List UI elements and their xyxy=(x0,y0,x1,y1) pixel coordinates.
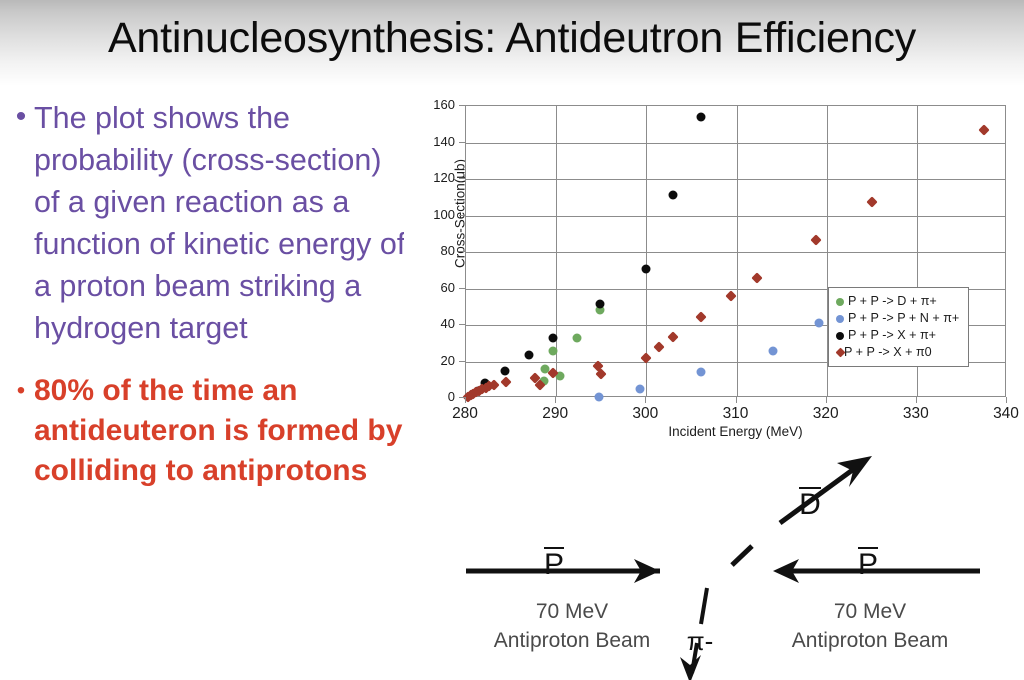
x-tick-label: 340 xyxy=(976,405,1024,423)
data-point xyxy=(500,376,511,387)
data-point xyxy=(668,331,679,342)
x-tick-mark xyxy=(736,397,737,403)
gridline-vertical xyxy=(737,106,738,396)
bullet-text-2: 80% of the time an antideuteron is forme… xyxy=(34,371,408,491)
x-tick-label: 320 xyxy=(796,405,856,423)
y-tick-mark xyxy=(459,251,465,252)
circle-marker-icon xyxy=(836,315,844,323)
y-tick-label: 0 xyxy=(395,389,455,404)
left-beam-caption: Antiproton Beam xyxy=(452,629,692,653)
gridline-horizontal xyxy=(466,216,1005,217)
antideuteron-label: D xyxy=(780,487,840,522)
y-tick-mark xyxy=(459,178,465,179)
y-tick-label: 80 xyxy=(395,243,455,258)
gridline-vertical xyxy=(556,106,557,396)
data-point xyxy=(978,125,989,136)
x-tick-mark xyxy=(645,397,646,403)
gridline-horizontal xyxy=(466,179,1005,180)
data-point xyxy=(596,300,605,309)
data-point xyxy=(484,381,495,392)
legend-item: P + P -> X + π+ xyxy=(836,327,959,344)
y-tick-label: 120 xyxy=(395,170,455,185)
data-point xyxy=(696,311,707,322)
data-point xyxy=(525,350,534,359)
data-point xyxy=(539,376,548,385)
legend-label: P + P -> P + N + π+ xyxy=(848,310,959,327)
gridline-horizontal xyxy=(466,252,1005,253)
x-tick-label: 280 xyxy=(435,405,495,423)
legend-item: P + P -> X + π0 xyxy=(836,344,959,361)
left-particle-label: P xyxy=(524,547,584,582)
gridline-horizontal xyxy=(466,143,1005,144)
y-tick-mark xyxy=(459,105,465,106)
data-point xyxy=(752,272,763,283)
legend-label: P + P -> D + π+ xyxy=(848,293,937,310)
data-point xyxy=(596,306,605,315)
data-point xyxy=(815,319,824,328)
y-tick-mark xyxy=(459,324,465,325)
data-point xyxy=(500,367,509,376)
y-tick-mark xyxy=(459,215,465,216)
y-tick-label: 100 xyxy=(395,207,455,222)
legend-label: P + P -> X + π+ xyxy=(848,327,936,344)
data-point xyxy=(488,380,499,391)
data-point xyxy=(596,368,607,379)
data-point xyxy=(480,379,489,388)
x-tick-mark xyxy=(555,397,556,403)
legend-label: P + P -> X + π0 xyxy=(844,344,932,361)
data-point xyxy=(477,384,488,395)
bullet-marker-icon: • xyxy=(8,371,34,411)
legend-item: P + P -> D + π+ xyxy=(836,293,959,310)
legend-item: P + P -> P + N + π+ xyxy=(836,310,959,327)
gridline-vertical xyxy=(646,106,647,396)
data-point xyxy=(468,388,479,399)
x-tick-label: 290 xyxy=(525,405,585,423)
data-point xyxy=(866,197,877,208)
right-beam-energy-label: 70 MeV xyxy=(770,600,970,624)
data-point xyxy=(465,389,476,400)
data-point xyxy=(653,342,664,353)
antiproton-collision-diagram: P P D π- 70 MeV Antiproton Beam 70 MeV A… xyxy=(420,443,1024,680)
y-tick-label: 140 xyxy=(395,134,455,149)
x-tick-mark xyxy=(1006,397,1007,403)
data-point xyxy=(470,386,481,397)
data-point xyxy=(473,386,482,395)
data-point xyxy=(725,290,736,301)
data-point xyxy=(529,372,540,383)
data-point xyxy=(534,380,545,391)
x-tick-label: 330 xyxy=(886,405,946,423)
x-tick-mark xyxy=(826,397,827,403)
chart-legend: P + P -> D + π+P + P -> P + N + π+P + P … xyxy=(828,287,969,367)
bullet-list: • The plot shows the probability (cross-… xyxy=(8,97,408,513)
x-tick-label: 310 xyxy=(706,405,766,423)
circle-marker-icon xyxy=(836,298,844,306)
data-point xyxy=(669,190,678,199)
data-point xyxy=(541,364,550,373)
y-tick-mark xyxy=(459,361,465,362)
data-point xyxy=(473,385,484,396)
y-tick-label: 60 xyxy=(395,280,455,295)
data-point xyxy=(480,382,491,393)
y-tick-mark xyxy=(459,288,465,289)
x-tick-label: 300 xyxy=(615,405,675,423)
data-point xyxy=(697,368,706,377)
x-tick-mark xyxy=(916,397,917,403)
y-tick-label: 160 xyxy=(395,97,455,112)
bullet-item-2: • 80% of the time an antideuteron is for… xyxy=(8,371,408,491)
left-beam-energy-label: 70 MeV xyxy=(472,600,672,624)
y-tick-label: 20 xyxy=(395,353,455,368)
bullet-item-1: • The plot shows the probability (cross-… xyxy=(8,97,408,349)
bullet-text-1: The plot shows the probability (cross-se… xyxy=(34,97,408,349)
bullet-marker-icon: • xyxy=(8,97,34,137)
right-beam-caption: Antiproton Beam xyxy=(750,629,990,653)
y-tick-mark xyxy=(459,142,465,143)
circle-marker-icon xyxy=(836,332,844,340)
y-tick-label: 40 xyxy=(395,316,455,331)
data-point xyxy=(572,334,581,343)
right-particle-label: P xyxy=(838,547,898,582)
page-title: Antinucleosynthesis: Antideutron Efficie… xyxy=(0,14,1024,63)
x-axis-title: Incident Energy (MeV) xyxy=(465,424,1006,439)
data-point xyxy=(697,112,706,121)
cross-section-scatter-chart: Cross-Section(μb) Incident Energy (MeV) … xyxy=(404,86,1020,441)
x-tick-mark xyxy=(465,397,466,403)
data-point xyxy=(595,393,604,402)
data-point xyxy=(768,346,777,355)
data-point xyxy=(636,385,645,394)
data-point xyxy=(810,234,821,245)
